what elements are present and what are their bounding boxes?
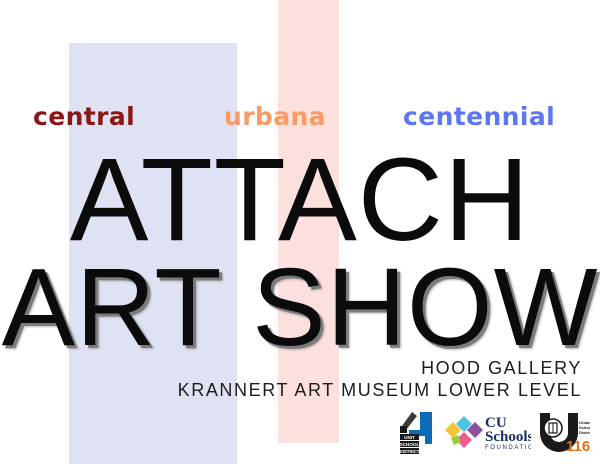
cu-text-foundation: FOUNDATION (485, 445, 531, 451)
headline-art-show: ART SHOW (0, 250, 600, 366)
unit4-text-school: SCHOOL (400, 442, 420, 447)
unit4-text-unit: UNIT (404, 435, 415, 440)
unit4-text-district: DISTRICT (400, 449, 420, 454)
city-label-centennial: centennial (403, 101, 555, 133)
cu-pinwheel-icon (445, 416, 483, 448)
art-show-poster: central urbana centennial ATTACH ART SHO… (0, 0, 600, 464)
city-label-urbana: urbana (224, 101, 326, 133)
venue-info: HOOD GALLERY KRANNERT ART MUSEUM LOWER L… (178, 357, 582, 401)
sponsor-logo-strip: UNIT SCHOOL DISTRICT CU (398, 407, 588, 457)
headline-attach: ATTACH (0, 138, 600, 262)
u116-text-district: District (579, 430, 590, 435)
urbana-school-district-116-logo: 116 Urbana School District (538, 411, 590, 453)
cu-schools-foundation-logo: CU Schools FOUNDATION (445, 411, 531, 453)
city-names-row: central urbana centennial (0, 101, 600, 133)
city-label-central: central (33, 101, 135, 133)
u116-text-number: 116 (566, 438, 590, 453)
venue-gallery-name: HOOD GALLERY (178, 357, 582, 379)
cu-text-schools: Schools (485, 429, 531, 445)
venue-museum-location: KRANNERT ART MUSEUM LOWER LEVEL (178, 379, 582, 401)
unit-4-school-district-logo: UNIT SCHOOL DISTRICT (398, 410, 438, 454)
